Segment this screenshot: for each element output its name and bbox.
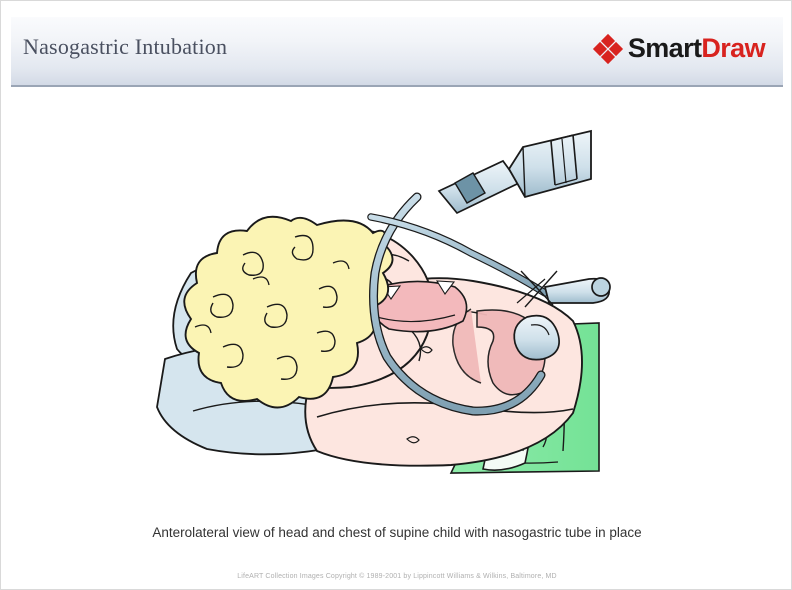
connector-bulb-tip bbox=[592, 278, 610, 296]
illustration-caption: Anterolateral view of head and chest of … bbox=[1, 525, 792, 540]
slide-header-bar: Nasogastric Intubation SmartDraw bbox=[11, 17, 783, 87]
syringe-barrel bbox=[509, 131, 591, 197]
illustration-canvas bbox=[121, 121, 681, 501]
slide-page: Nasogastric Intubation SmartDraw bbox=[0, 0, 792, 590]
logo-text-smart: Smart bbox=[628, 33, 702, 63]
nasogastric-intubation-illustration bbox=[121, 121, 681, 501]
smartdraw-logo-text: SmartDraw bbox=[628, 35, 765, 62]
smartdraw-diamond-logo-icon bbox=[595, 36, 621, 62]
page-title: Nasogastric Intubation bbox=[23, 34, 227, 60]
syringe-taper bbox=[439, 161, 519, 213]
copyright-notice: LifeART Collection Images Copyright © 19… bbox=[1, 573, 792, 580]
smartdraw-logo[interactable]: SmartDraw bbox=[595, 35, 765, 62]
logo-text-draw: Draw bbox=[701, 33, 765, 63]
tube-gastric-tip bbox=[514, 316, 559, 360]
